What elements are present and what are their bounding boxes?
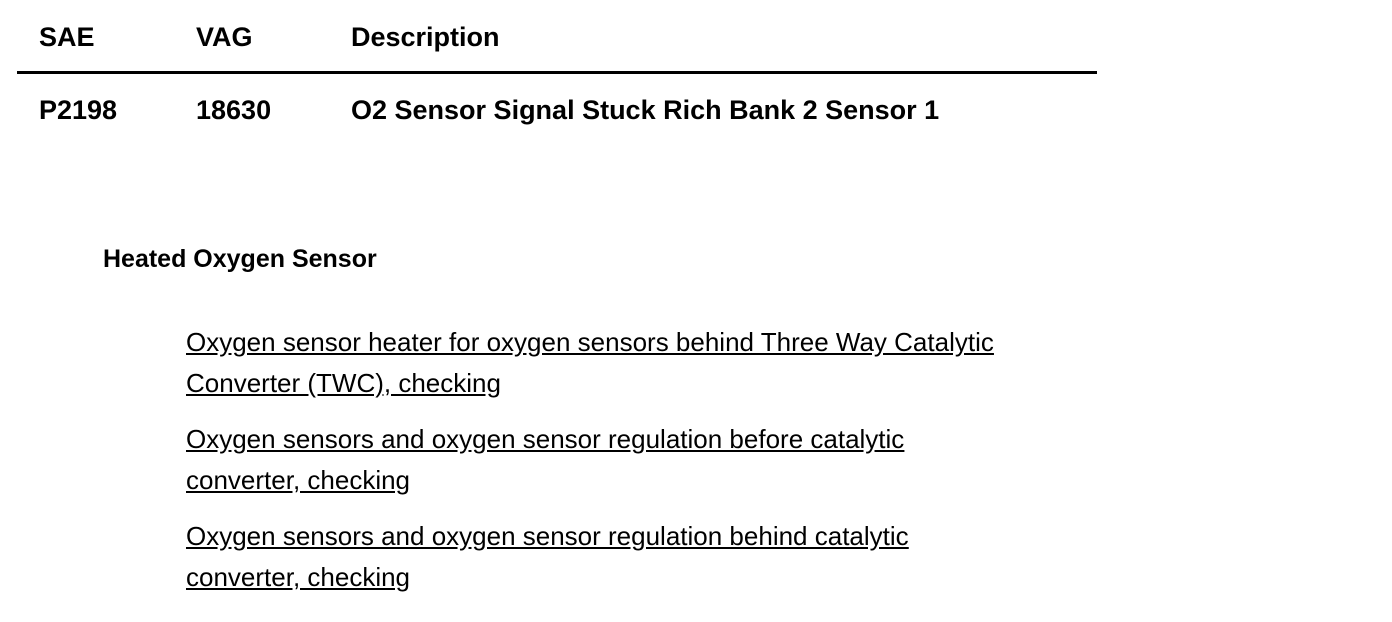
link-oxygen-sensor-regulation-behind-catalytic-converter[interactable]: Oxygen sensors and oxygen sensor regulat… [186, 516, 1366, 598]
link-line-2: Converter (TWC), checking [186, 363, 1366, 404]
link-line-1: Oxygen sensor heater for oxygen sensors … [186, 322, 1366, 363]
cell-sae-code: P2198 [39, 93, 117, 127]
link-line-1: Oxygen sensors and oxygen sensor regulat… [186, 516, 1366, 557]
section-heading-heated-oxygen-sensor: Heated Oxygen Sensor [103, 243, 377, 275]
column-header-description: Description [351, 20, 500, 54]
document-page: SAE VAG Description P2198 18630 O2 Senso… [0, 0, 1392, 622]
link-line-2: converter, checking [186, 557, 1366, 598]
link-line-2: converter, checking [186, 460, 1366, 501]
column-header-vag: VAG [196, 20, 253, 54]
column-header-sae: SAE [39, 20, 95, 54]
cell-description: O2 Sensor Signal Stuck Rich Bank 2 Senso… [351, 93, 939, 127]
table-header-divider [17, 71, 1097, 74]
table-row: P2198 18630 O2 Sensor Signal Stuck Rich … [0, 93, 1392, 133]
link-oxygen-sensor-regulation-before-catalytic-converter[interactable]: Oxygen sensors and oxygen sensor regulat… [186, 419, 1366, 501]
table-header-row: SAE VAG Description [0, 20, 1392, 60]
link-line-1: Oxygen sensors and oxygen sensor regulat… [186, 419, 1366, 460]
cell-vag-code: 18630 [196, 93, 271, 127]
link-oxygen-sensor-heater-behind-twc[interactable]: Oxygen sensor heater for oxygen sensors … [186, 322, 1366, 404]
procedure-link-list: Oxygen sensor heater for oxygen sensors … [186, 322, 1376, 598]
